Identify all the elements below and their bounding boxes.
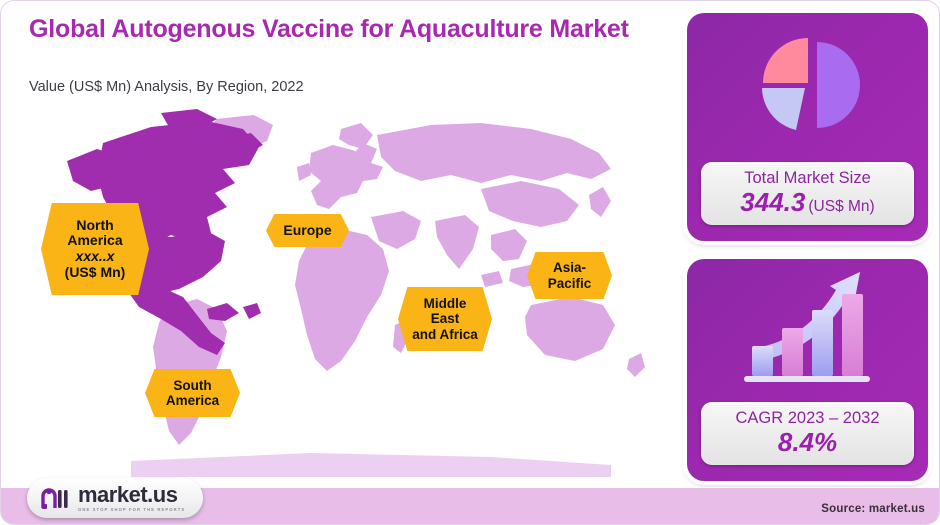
label-line-3: and Africa: [412, 327, 478, 342]
cagr-card: CAGR 2023 – 2032 8.4%: [687, 259, 928, 481]
cagr-label: CAGR 2023 – 2032: [705, 409, 910, 427]
label-line-2: America: [67, 233, 122, 249]
market-us-logo-tagline: ONE STOP SHOP FOR THE REPORTS: [78, 508, 185, 512]
market-size-unit: (US$ Mn): [808, 198, 874, 215]
market-size-value-box: Total Market Size 344.3(US$ Mn): [701, 162, 914, 225]
label-value: xxx..x: [76, 249, 115, 265]
page-title: Global Autogenous Vaccine for Aquacultur…: [29, 15, 629, 45]
market-us-logo-text: market.us: [78, 484, 185, 506]
label-line-1: Middle: [424, 296, 467, 311]
label-line-1: South: [173, 378, 211, 393]
market-size-label: Total Market Size: [705, 169, 910, 187]
market-size-value-row: 344.3(US$ Mn): [705, 189, 910, 216]
label-line-1: North: [76, 218, 113, 234]
label-line-2: East: [431, 311, 460, 326]
cagr-value: 8.4%: [705, 429, 910, 456]
page-subtitle: Value (US$ Mn) Analysis, By Region, 2022: [29, 79, 629, 95]
source-text: Source: market.us: [821, 503, 925, 515]
map-label-middle-east-and-africa[interactable]: Middle East and Africa: [398, 287, 492, 351]
total-market-size-card: Total Market Size 344.3(US$ Mn): [687, 13, 928, 241]
label-unit: (US$ Mn): [65, 265, 126, 281]
map-label-south-america[interactable]: South America: [145, 369, 240, 417]
world-map: North America xxx..x (US$ Mn) Europe Mid…: [11, 109, 671, 479]
label-line-2: America: [166, 393, 219, 408]
label-line-2: Pacific: [548, 276, 592, 291]
market-size-value: 344.3: [740, 187, 805, 217]
bar-chart-growth-icon: [687, 259, 928, 394]
map-label-asia-pacific[interactable]: Asia- Pacific: [527, 252, 612, 299]
label-line-1: Europe: [283, 223, 331, 239]
market-us-logo[interactable]: market.us ONE STOP SHOP FOR THE REPORTS: [27, 478, 203, 518]
label-line-1: Asia-: [553, 260, 586, 275]
map-label-europe[interactable]: Europe: [266, 214, 349, 247]
pie-chart-icon: [687, 13, 928, 153]
market-us-logo-icon: [41, 486, 71, 510]
infographic-page: Global Autogenous Vaccine for Aquacultur…: [0, 0, 940, 525]
map-label-north-america[interactable]: North America xxx..x (US$ Mn): [41, 203, 149, 295]
cagr-value-box: CAGR 2023 – 2032 8.4%: [701, 402, 914, 465]
